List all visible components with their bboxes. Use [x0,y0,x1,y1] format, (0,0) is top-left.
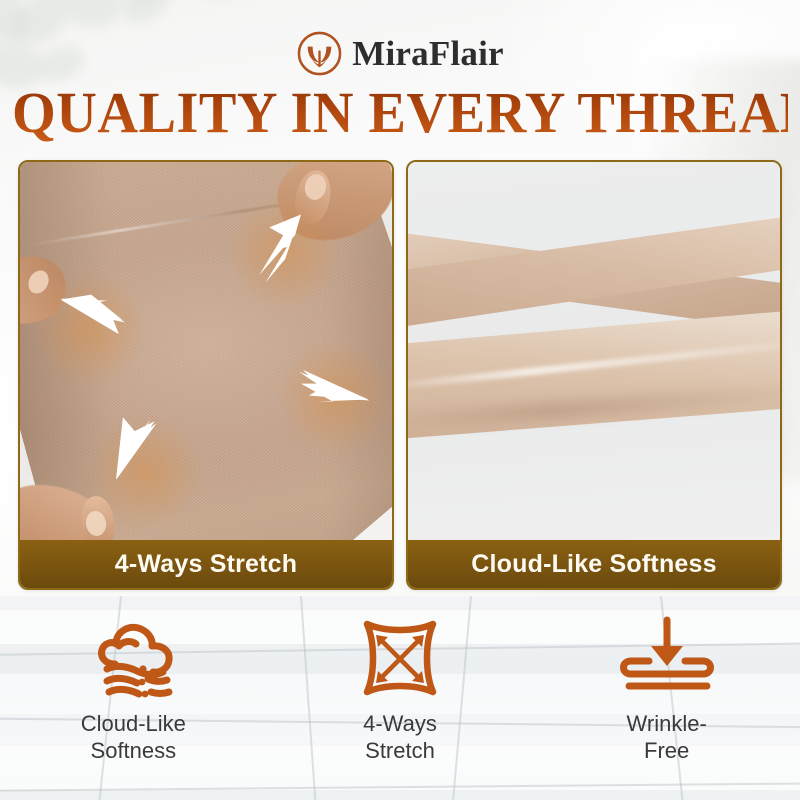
infographic-page: MiraFlair QUALITY IN EVERY THREAD [0,0,800,800]
softness-caption-text: Cloud-Like Softness [471,550,717,579]
four-way-stretch-icon [357,616,443,702]
leaf-monogram-icon [296,30,343,77]
softness-panel[interactable]: Cloud-Like Softness [406,160,782,590]
feature-panels: 4-Ways Stretch Cloud-Like Softness [18,160,782,590]
feature-cloud-like-softness[interactable]: Cloud-Like Softness [0,616,267,794]
feature-wrinkle-free[interactable]: Wrinkle- Free [533,616,800,794]
softness-panel-caption: Cloud-Like Softness [408,540,780,588]
brand-logo: MiraFlair [0,26,800,80]
draped-silky-fabric-photo [408,162,780,544]
feature-cloud-label: Cloud-Like Softness [81,710,186,764]
cloud-softness-icon [85,616,181,702]
stretch-panel[interactable]: 4-Ways Stretch [18,160,394,590]
stretch-arrows [20,162,392,544]
wrinkle-free-icon [615,616,719,702]
stretch-caption-text: 4-Ways Stretch [115,550,298,579]
feature-icons-row: Cloud-Like Softness [0,616,800,794]
page-title: QUALITY IN EVERY THREAD [12,83,788,143]
feature-four-ways-stretch[interactable]: 4-Ways Stretch [267,616,534,794]
feature-wrinkle-label: Wrinkle- Free [627,710,707,764]
hands-stretching-fabric-photo [20,162,392,544]
feature-stretch-label: 4-Ways Stretch [363,710,437,764]
brand-name: MiraFlair [352,36,503,71]
stretch-panel-caption: 4-Ways Stretch [20,540,392,588]
